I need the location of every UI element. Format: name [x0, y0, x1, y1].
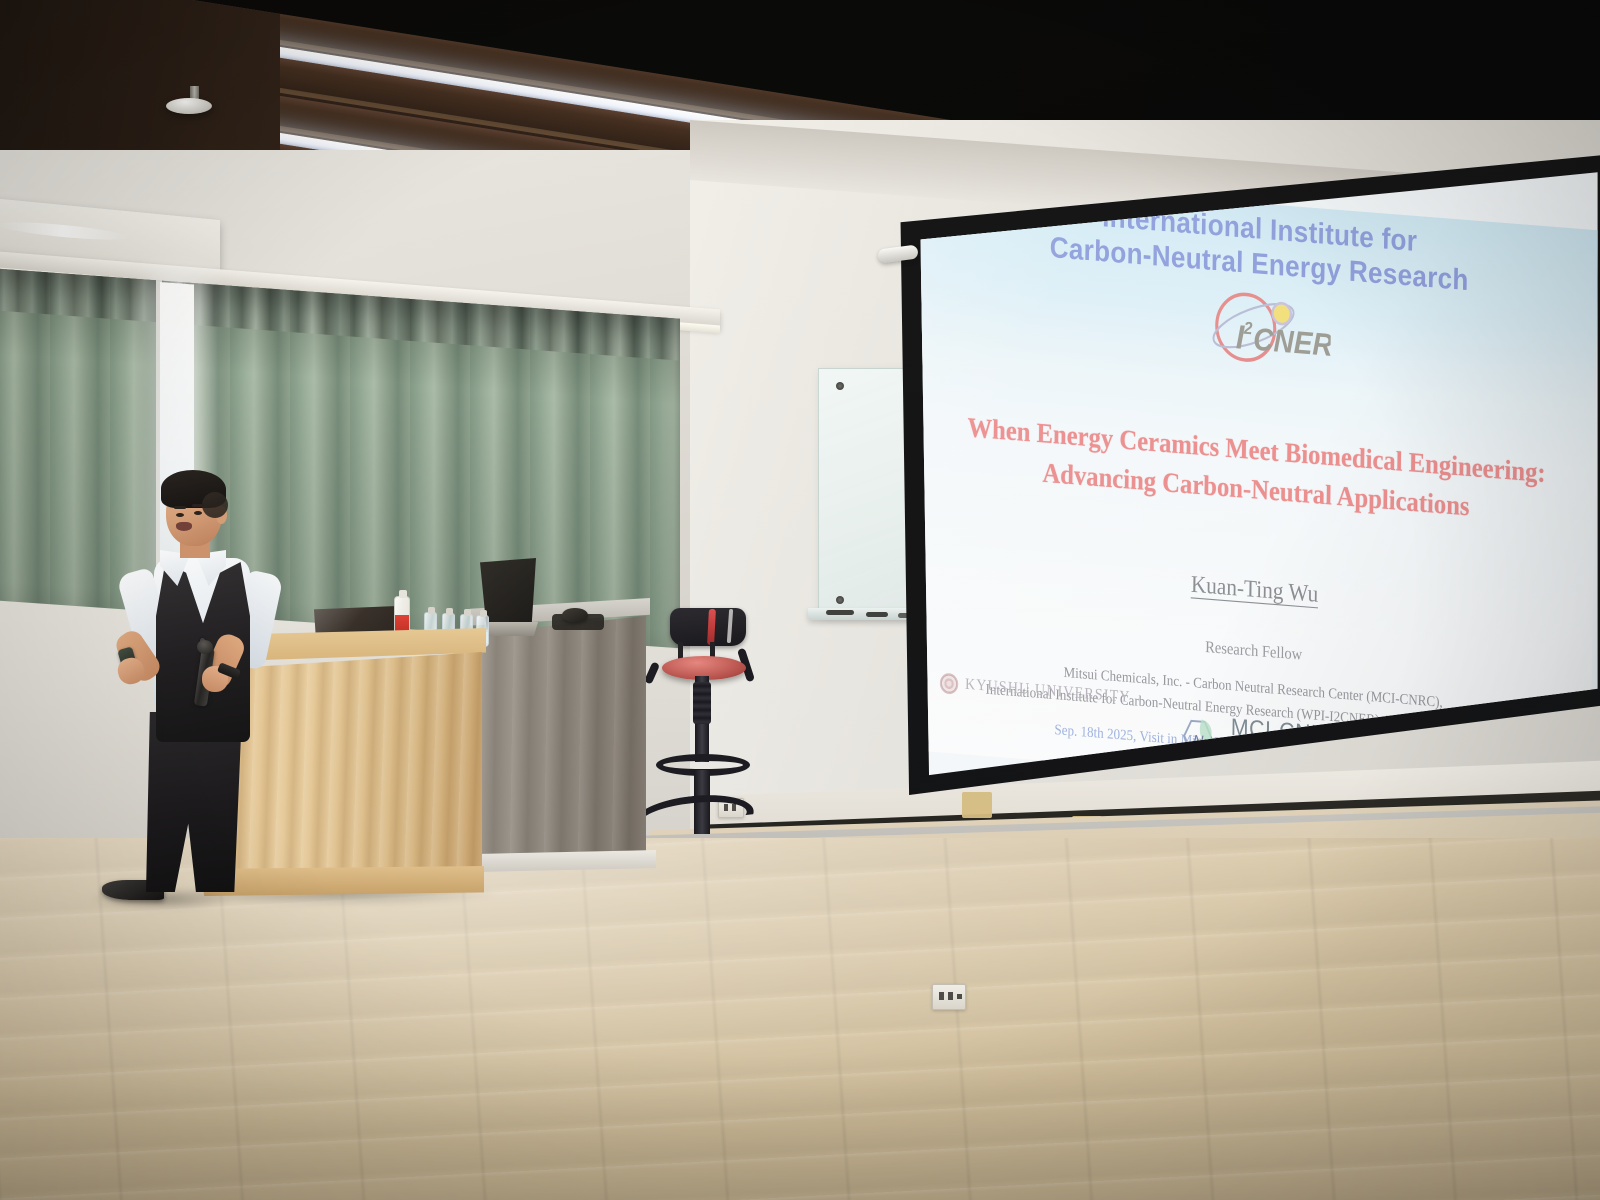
slide-speaker-name: Kuan-Ting Wu [916, 548, 1593, 630]
presenter-hair-fade [202, 492, 228, 518]
stool-white-stripe [727, 609, 733, 643]
slide-title: When Energy Ceramics Meet Biomedical Eng… [918, 404, 1595, 536]
floor-power-outlet[interactable] [932, 984, 966, 1010]
mci-logo-sub-2: Carbon Neutral Research Center [1230, 754, 1342, 773]
presenter-eyebrow [174, 506, 186, 509]
monitor-stand [486, 622, 538, 636]
bottle-cap [446, 608, 453, 615]
bottle-cap [428, 607, 435, 614]
i2cner-logo: I 2 CNER [1185, 283, 1331, 380]
stool-backrest [670, 608, 746, 646]
wpi-logo: wpi World Premier International Research… [1406, 765, 1584, 795]
kyushu-logo-text: KYUSHU UNIVERSITY [965, 676, 1131, 708]
presenter-mouth [176, 522, 192, 531]
lecture-hall-photo: International Institute for Carbon-Neutr… [0, 0, 1600, 1200]
bottle-cap [480, 610, 487, 617]
wpi-bird-icon [1406, 765, 1463, 795]
whiteboard-stud [836, 596, 844, 604]
whiteboard-marker[interactable] [866, 612, 888, 617]
ceiling-dome-speaker-icon [166, 98, 212, 114]
projection-screen-surface: International Institute for Carbon-Neutr… [892, 155, 1600, 795]
stool-bellows [693, 682, 711, 724]
svg-text:CNER: CNER [1253, 322, 1331, 363]
bottle-cap [464, 609, 471, 616]
wall-tape-marker [962, 792, 992, 818]
svg-text:2: 2 [1243, 318, 1253, 338]
presenter-eyebrow [192, 504, 204, 507]
whiteboard-stud [836, 382, 844, 390]
kyushu-university-logo: KYUSHU UNIVERSITY [940, 673, 1131, 709]
ac-highlight [0, 219, 128, 244]
av-desk-grain [480, 616, 646, 864]
av-desk [470, 598, 650, 870]
presenter-eye [194, 511, 202, 515]
wpi-text-block: wpi World Premier International Research… [1467, 792, 1584, 795]
whiteboard-marker[interactable] [826, 610, 854, 615]
presenter-eye [176, 513, 184, 517]
kyushu-crest-icon [940, 673, 959, 695]
lab-stool[interactable] [650, 608, 756, 836]
bottle-cap [399, 590, 407, 598]
av-desk-body [480, 616, 646, 864]
presenter [98, 462, 308, 902]
projection-screen: International Institute for Carbon-Neutr… [892, 155, 1600, 795]
computer-mouse[interactable] [562, 608, 588, 622]
wpi-wordmark: wpi [1467, 792, 1505, 795]
stool-red-stripe [707, 609, 716, 645]
